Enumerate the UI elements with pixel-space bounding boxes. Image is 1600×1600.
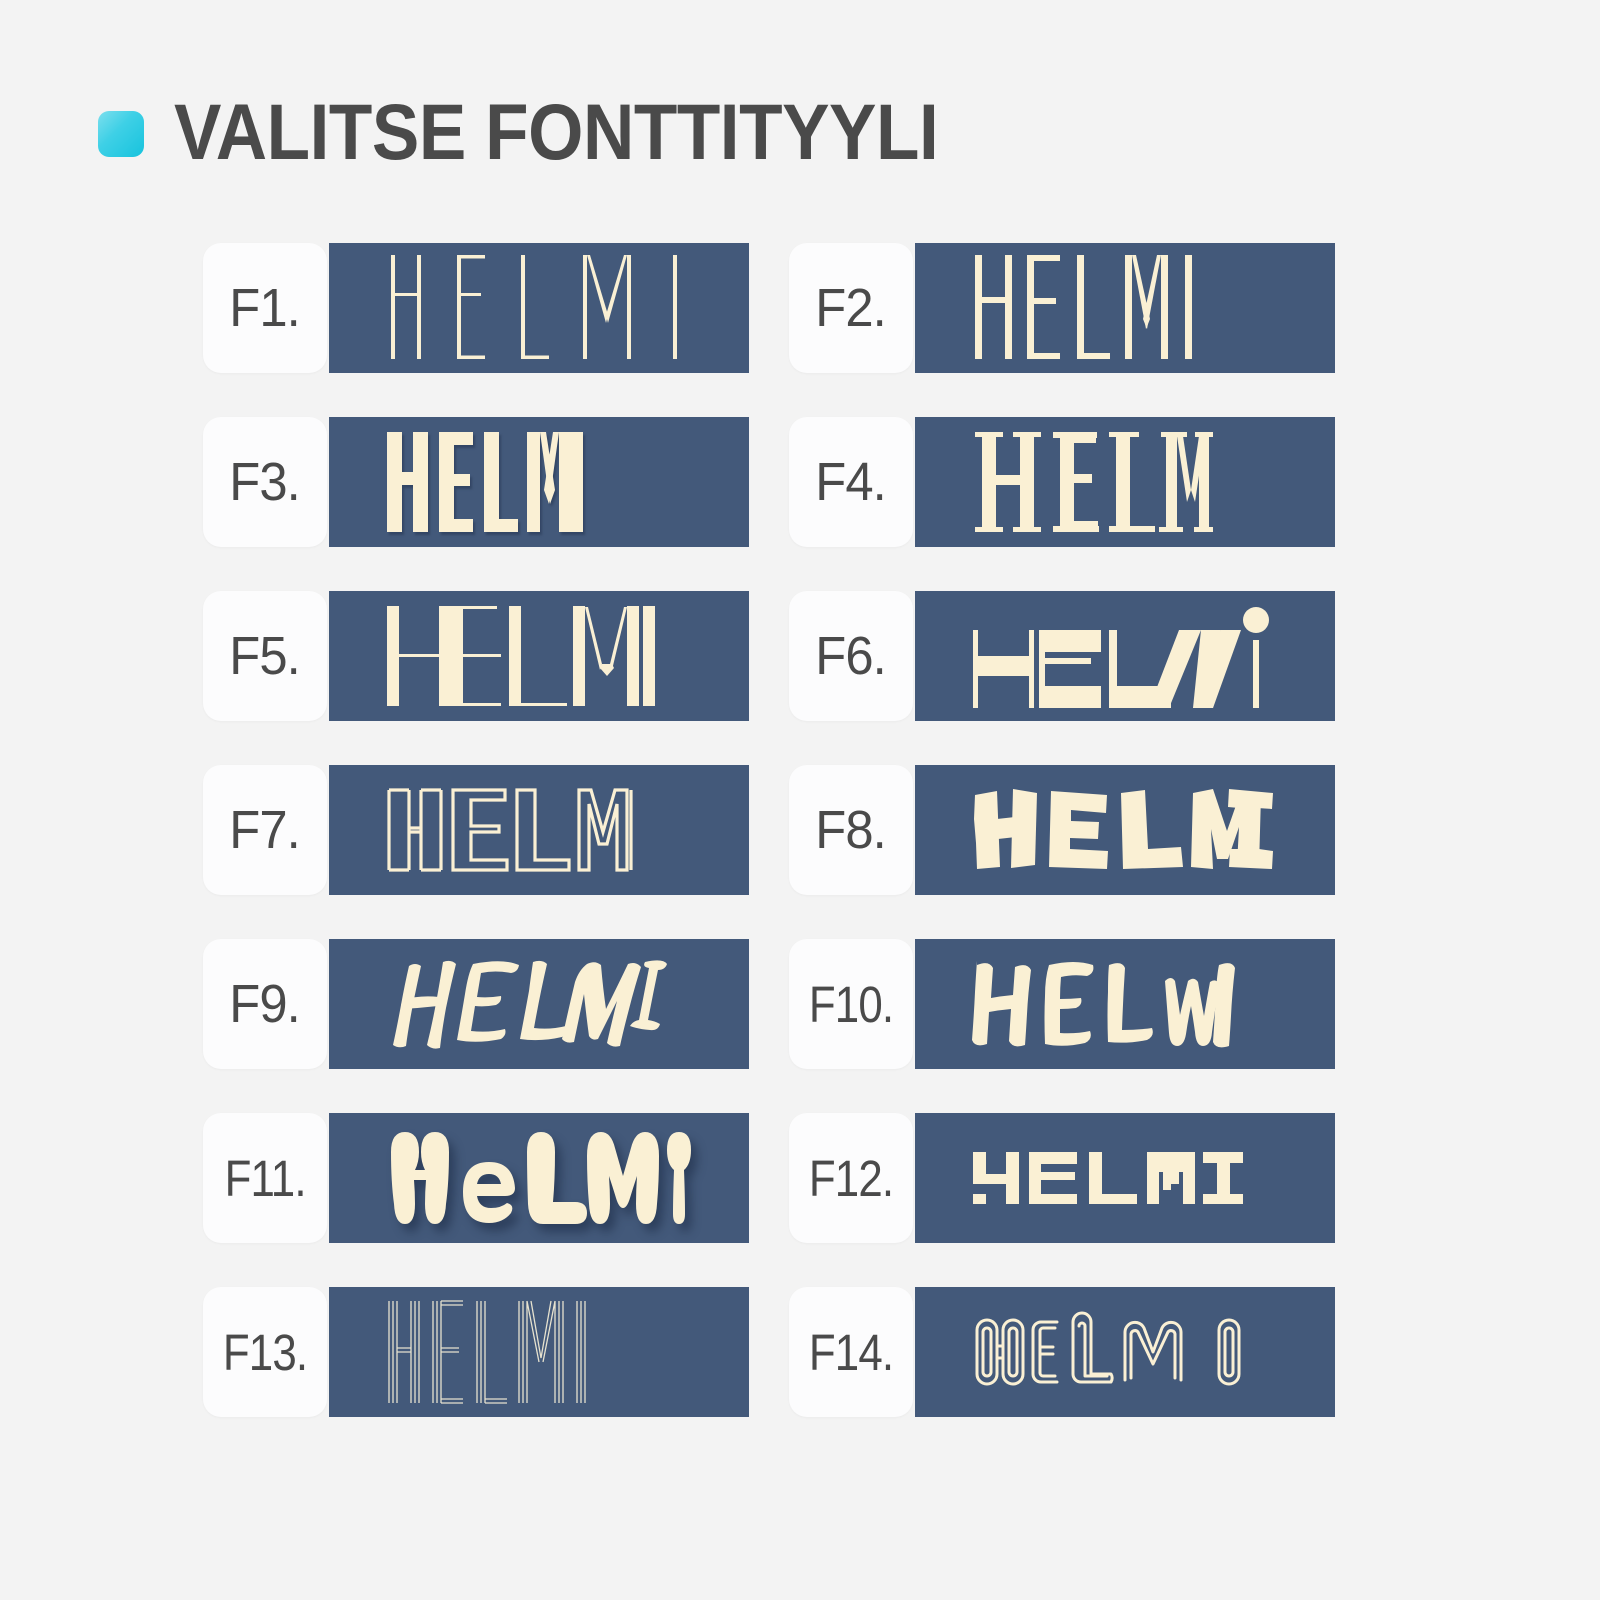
font-sample-f11[interactable] — [329, 1113, 749, 1243]
option-label-f10: F10. — [809, 979, 893, 1030]
page-title: VALITSE FONTTITYYLI — [174, 92, 938, 171]
sample-text-f9 — [329, 939, 667, 1069]
option-label-chip-f9[interactable]: F9. — [203, 939, 327, 1069]
rounded-square-icon — [98, 111, 144, 157]
option-label-f9: F9. — [230, 977, 301, 1031]
option-label-chip-f3[interactable]: F3. — [203, 417, 327, 547]
font-sample-f3[interactable] — [329, 417, 749, 547]
sample-text-f8 — [915, 765, 1273, 895]
sample-text-f13 — [329, 1287, 587, 1417]
font-sample-f8[interactable] — [915, 765, 1335, 895]
font-sample-f13[interactable] — [329, 1287, 749, 1417]
option-label-chip-f4[interactable]: F4. — [789, 417, 913, 547]
option-label-f4: F4. — [816, 455, 887, 509]
sample-text-f7 — [329, 765, 635, 895]
sample-text-f12 — [915, 1113, 1243, 1243]
font-sample-f7[interactable] — [329, 765, 749, 895]
option-label-chip-f11[interactable]: F11. — [203, 1113, 327, 1243]
option-label-f11: F11. — [224, 1153, 305, 1204]
option-label-chip-f13[interactable]: F13. — [203, 1287, 327, 1417]
option-label-chip-f7[interactable]: F7. — [203, 765, 327, 895]
option-label-f8: F8. — [816, 803, 887, 857]
sample-text-f5 — [329, 591, 657, 721]
sample-text-f4 — [915, 417, 1213, 547]
option-label-chip-f6[interactable]: F6. — [789, 591, 913, 721]
sample-text-f2 — [915, 243, 1203, 373]
font-sample-f1[interactable] — [329, 243, 749, 373]
sample-text-f3 — [329, 417, 583, 547]
sample-text-f10 — [915, 939, 1235, 1069]
font-style-picker-page: VALITSE FONTTITYYLI F1. — [0, 0, 1600, 1600]
font-sample-f6[interactable] — [915, 591, 1335, 721]
font-sample-f9[interactable] — [329, 939, 749, 1069]
font-sample-f4[interactable] — [915, 417, 1335, 547]
option-label-f3: F3. — [230, 455, 301, 509]
option-label-chip-f5[interactable]: F5. — [203, 591, 327, 721]
font-sample-f12[interactable] — [915, 1113, 1335, 1243]
option-label-chip-f10[interactable]: F10. — [789, 939, 913, 1069]
option-label-f1: F1. — [230, 281, 301, 335]
font-options-grid: F1. — [203, 243, 1395, 1417]
option-label-f5: F5. — [230, 629, 301, 683]
option-label-f12: F12. — [809, 1153, 893, 1204]
option-label-chip-f14[interactable]: F14. — [789, 1287, 913, 1417]
sample-text-f14 — [915, 1287, 1245, 1417]
option-label-f6: F6. — [816, 629, 887, 683]
sample-text-f1 — [329, 243, 717, 373]
font-sample-f10[interactable] — [915, 939, 1335, 1069]
option-label-chip-f12[interactable]: F12. — [789, 1113, 913, 1243]
option-label-f7: F7. — [230, 803, 301, 857]
page-header: VALITSE FONTTITYYLI — [98, 86, 1023, 176]
option-label-chip-f8[interactable]: F8. — [789, 765, 913, 895]
font-sample-f2[interactable] — [915, 243, 1335, 373]
sample-text-f6 — [915, 591, 1273, 721]
sample-text-f11 — [329, 1113, 679, 1243]
option-label-f13: F13. — [223, 1327, 307, 1378]
font-sample-f14[interactable] — [915, 1287, 1335, 1417]
option-label-f2: F2. — [816, 281, 887, 335]
option-label-f14: F14. — [809, 1327, 893, 1378]
font-sample-f5[interactable] — [329, 591, 749, 721]
option-label-chip-f2[interactable]: F2. — [789, 243, 913, 373]
option-label-chip-f1[interactable]: F1. — [203, 243, 327, 373]
